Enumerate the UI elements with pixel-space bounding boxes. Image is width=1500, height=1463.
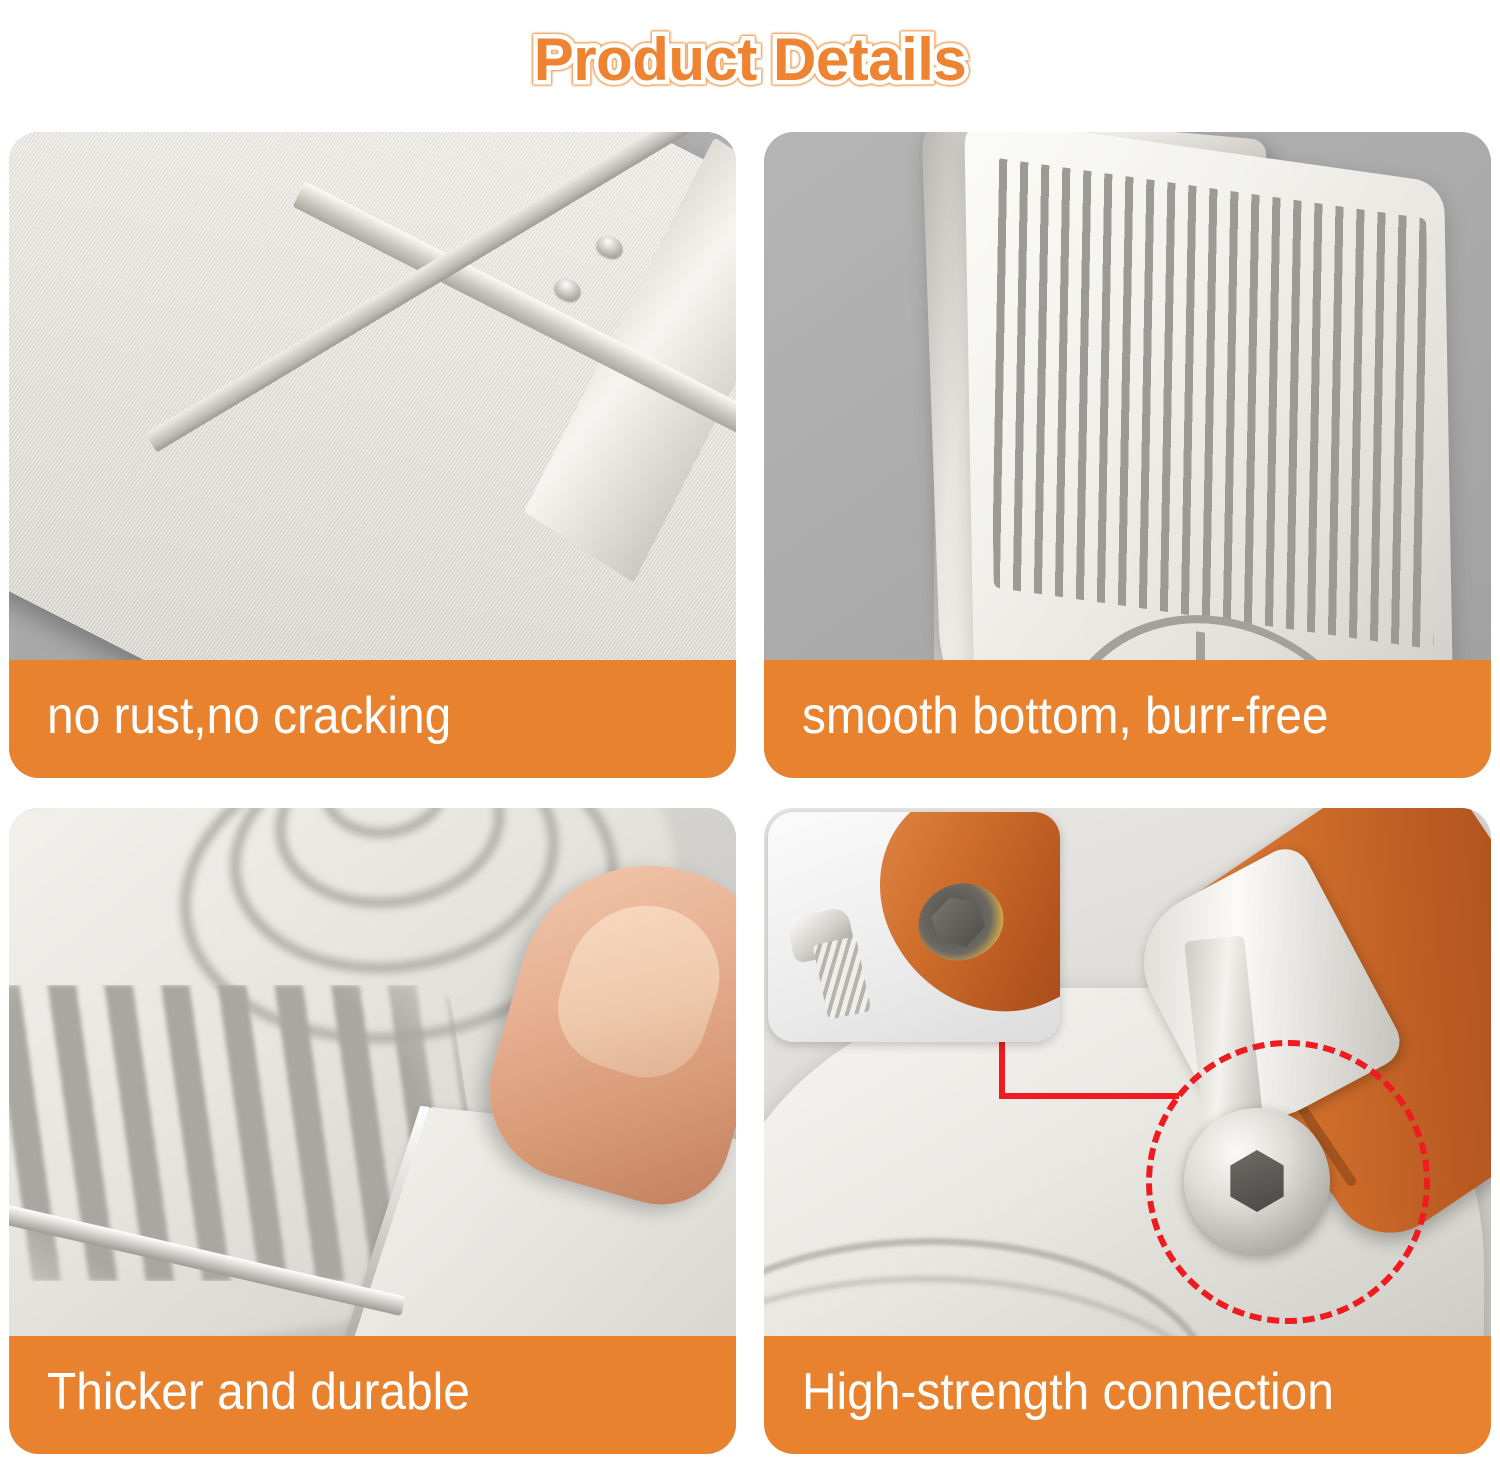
card-caption-bar: High-strength connection — [764, 1336, 1491, 1454]
card-caption-text: no rust,no cracking — [47, 690, 451, 742]
card-caption-text: smooth bottom, burr-free — [802, 690, 1328, 742]
card-caption-bar: smooth bottom, burr-free — [764, 660, 1491, 778]
product-details-grid: no rust,no cracking smooth bottom, burr-… — [9, 132, 1491, 1454]
page-title: Product Details — [534, 25, 967, 94]
highlight-dashed-circle — [1146, 1040, 1430, 1324]
detail-card-thicker-durable[interactable]: Thicker and durable — [9, 808, 736, 1454]
bolt-thread-icon — [813, 936, 872, 1019]
card-caption-text: Thicker and durable — [47, 1366, 470, 1418]
page-header: Product Details — [0, 0, 1500, 118]
card-caption-text: High-strength connection — [802, 1366, 1334, 1418]
detail-card-no-rust[interactable]: no rust,no cracking — [9, 132, 736, 778]
inset-detail-panel — [768, 812, 1060, 1042]
detail-card-smooth-bottom[interactable]: smooth bottom, burr-free — [764, 132, 1491, 778]
card-caption-bar: no rust,no cracking — [9, 660, 736, 778]
card-caption-bar: Thicker and durable — [9, 1336, 736, 1454]
callout-line-horizontal — [999, 1093, 1179, 1099]
detail-card-high-strength[interactable]: High-strength connection — [764, 808, 1491, 1454]
scoop-parallel-slots — [986, 156, 1433, 649]
